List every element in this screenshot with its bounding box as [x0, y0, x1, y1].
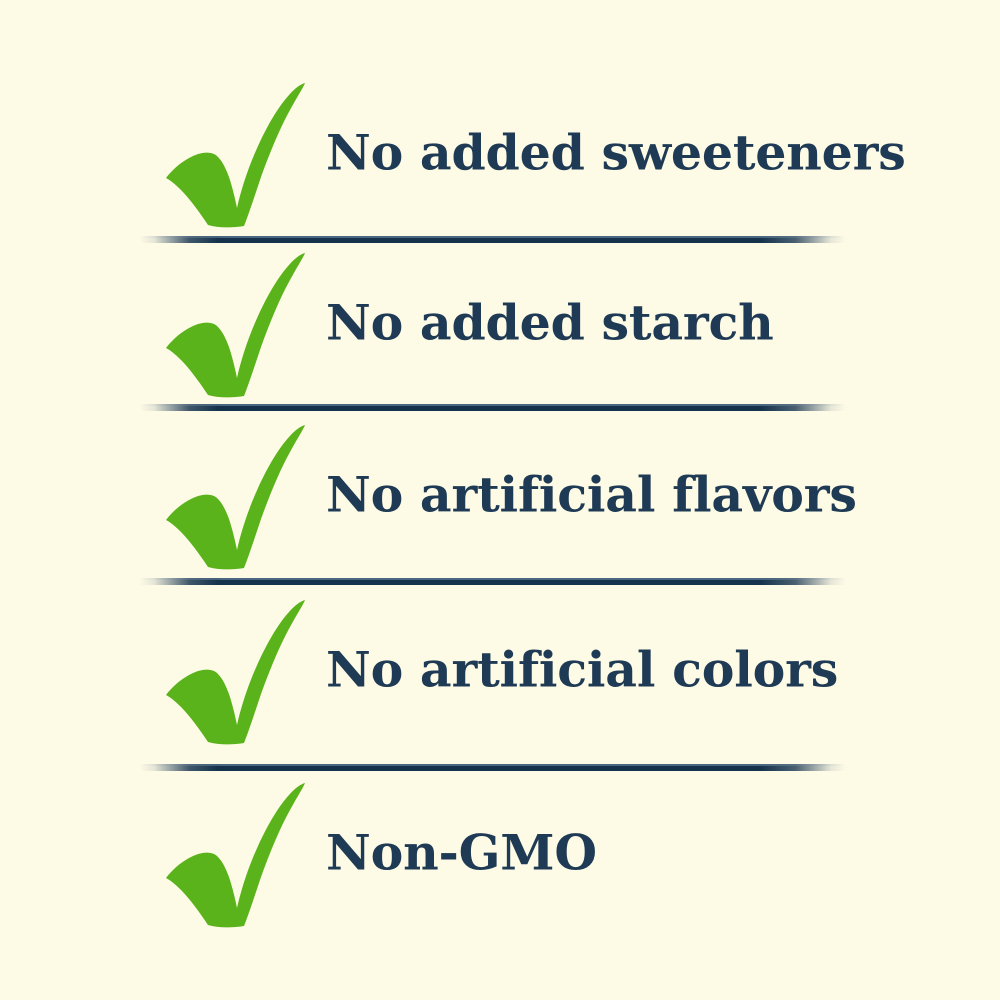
divider-highlight	[140, 764, 845, 766]
claim-row: No artificial flavors	[0, 410, 1000, 580]
claims-panel: No added sweeteners No added starch No a…	[0, 0, 1000, 1000]
claim-label: No added sweeteners	[326, 127, 906, 178]
green-check-icon	[162, 248, 308, 398]
green-check-icon	[162, 420, 308, 570]
claim-row: No artificial colors	[0, 585, 1000, 755]
claim-label: No added starch	[326, 297, 774, 348]
claim-row: No added starch	[0, 238, 1000, 408]
claim-divider	[140, 578, 845, 585]
divider-highlight	[140, 578, 845, 580]
claim-label: No artificial flavors	[326, 469, 857, 520]
claim-label: No artificial colors	[326, 644, 838, 695]
divider-highlight	[140, 404, 845, 406]
green-check-icon	[162, 78, 308, 228]
claim-row: Non-GMO	[0, 768, 1000, 938]
claim-label: Non-GMO	[326, 827, 597, 878]
claim-row: No added sweeteners	[0, 68, 1000, 238]
green-check-icon	[162, 595, 308, 745]
green-check-icon	[162, 778, 308, 928]
